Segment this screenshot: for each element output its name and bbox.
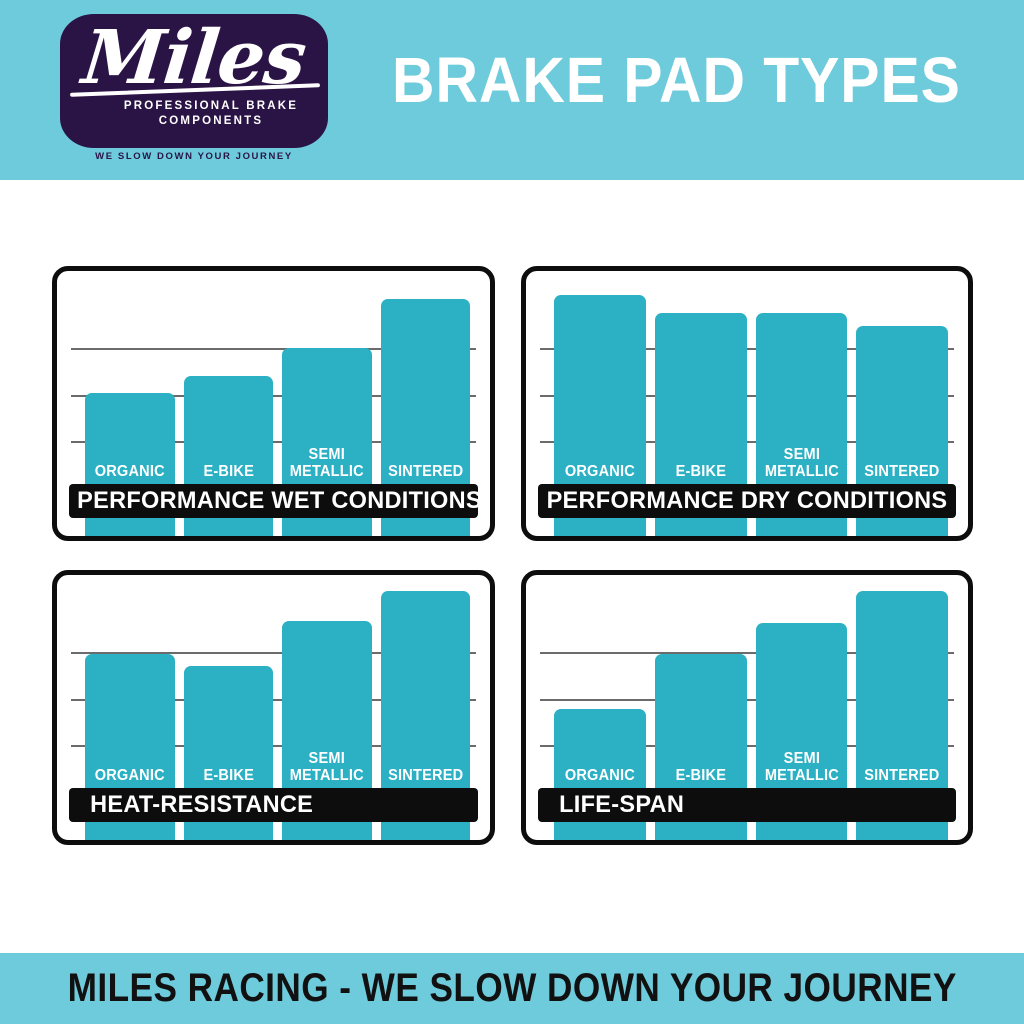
logo-subtitle-line2: COMPONENTS [94,115,328,127]
header-banner: Miles PROFESSIONAL BRAKE COMPONENTS WE S… [0,0,1024,180]
chart-title-bar: PERFORMANCE WET CONDITIONS [69,484,478,518]
chart-card-performance-wet: ORGANICE-BIKESEMIMETALLICSINTEREDPERFORM… [52,266,495,541]
bar-category-label: SINTERED [383,463,467,480]
bar-label-line: ORGANIC [557,463,643,480]
bar-label-line: METALLIC [285,463,369,480]
chart-title: LIFE-SPAN [538,791,684,819]
footer-banner: MILES RACING - WE SLOW DOWN YOUR JOURNEY [0,953,1024,1024]
bar-label-line: METALLIC [285,767,369,784]
bar-label-line: METALLIC [758,767,844,784]
chart-card-heat-resistance: ORGANICE-BIKESEMIMETALLICSINTEREDHEAT-RE… [52,570,495,845]
bar-category-label: ORGANIC [88,767,172,784]
bar-category-label: ORGANIC [557,767,643,784]
chart-title: PERFORMANCE WET CONDITIONS [77,487,470,515]
bar-category-label: E-BIKE [186,767,270,784]
bar-label-line: ORGANIC [88,767,172,784]
bar-category-label: E-BIKE [658,767,744,784]
bar-label-line: SINTERED [383,463,467,480]
bar-chart-performance-wet: ORGANICE-BIKESEMIMETALLICSINTEREDPERFORM… [57,271,490,536]
footer-slogan: MILES RACING - WE SLOW DOWN YOUR JOURNEY [67,966,956,1011]
chart-title: HEAT-RESISTANCE [69,791,313,819]
bar-category-label: ORGANIC [557,463,643,480]
bar-label-line: SINTERED [383,767,467,784]
bar-label-line: SEMI [285,446,369,463]
bar-category-label: SEMIMETALLIC [758,750,844,784]
bar-category-label: SINTERED [859,463,945,480]
logo-subtitle-line1: PROFESSIONAL BRAKE [94,100,328,112]
chart-card-performance-dry: ORGANICE-BIKESEMIMETALLICSINTEREDPERFORM… [521,266,973,541]
bar-category-label: E-BIKE [186,463,270,480]
bar-chart-performance-dry: ORGANICE-BIKESEMIMETALLICSINTEREDPERFORM… [526,271,968,536]
bar-label-line: E-BIKE [658,463,744,480]
chart-title-bar: PERFORMANCE DRY CONDITIONS [538,484,956,518]
chart-title-bar: LIFE-SPAN [538,788,956,822]
bar-chart-heat-resistance: ORGANICE-BIKESEMIMETALLICSINTEREDHEAT-RE… [57,575,490,840]
bar-category-label: SINTERED [859,767,945,784]
logo-tagline: WE SLOW DOWN YOUR JOURNEY [60,151,328,162]
logo-plate: Miles PROFESSIONAL BRAKE COMPONENTS [60,14,328,148]
bar-label-line: ORGANIC [557,767,643,784]
bar-category-label: SEMIMETALLIC [758,446,844,480]
bar-label-line: SEMI [758,750,844,767]
chart-title: PERFORMANCE DRY CONDITIONS [546,487,947,515]
brand-logo: Miles PROFESSIONAL BRAKE COMPONENTS WE S… [60,14,340,166]
bar-label-line: SINTERED [859,463,945,480]
bar-category-label: SEMIMETALLIC [285,750,369,784]
bar-label-line: E-BIKE [186,463,270,480]
bar-chart-life-span: ORGANICE-BIKESEMIMETALLICSINTEREDLIFE-SP… [526,575,968,840]
bar-label-line: E-BIKE [658,767,744,784]
bar-label-line: E-BIKE [186,767,270,784]
bar-category-label: SINTERED [383,767,467,784]
bar-label-line: ORGANIC [88,463,172,480]
bar-category-label: ORGANIC [88,463,172,480]
bar-category-label: SEMIMETALLIC [285,446,369,480]
chart-title-bar: HEAT-RESISTANCE [69,788,478,822]
bar-label-line: METALLIC [758,463,844,480]
bar-category-label: E-BIKE [658,463,744,480]
bar-label-line: SEMI [758,446,844,463]
chart-card-life-span: ORGANICE-BIKESEMIMETALLICSINTEREDLIFE-SP… [521,570,973,845]
infographic-page: Miles PROFESSIONAL BRAKE COMPONENTS WE S… [0,0,1024,1024]
bar-label-line: SEMI [285,750,369,767]
page-title: BRAKE PAD TYPES [392,48,961,112]
bar-label-line: SINTERED [859,767,945,784]
chart-grid: ORGANICE-BIKESEMIMETALLICSINTEREDPERFORM… [0,180,1024,943]
